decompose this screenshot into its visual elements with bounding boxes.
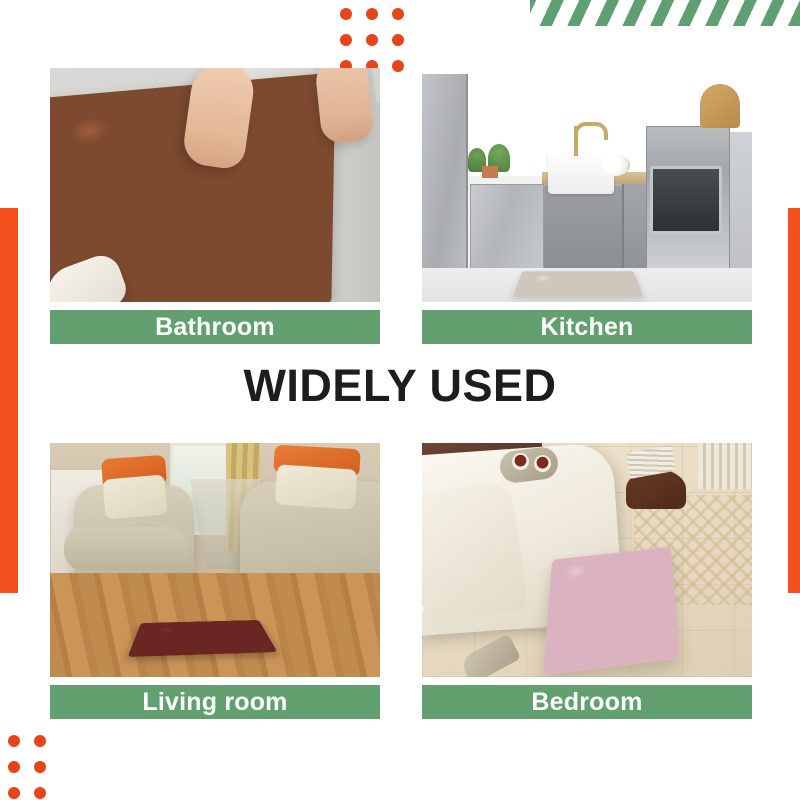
beige-pillow-left [102, 474, 167, 519]
label-text-bedroom: Bedroom [531, 690, 642, 715]
coffee-cup-right [534, 455, 551, 472]
label-text-living-room: Living room [142, 690, 287, 715]
label-text-bathroom: Bathroom [155, 315, 275, 340]
kitchen-scene [422, 68, 752, 302]
label-bar-kitchen: Kitchen [422, 310, 752, 344]
scenario-card-living-room: Living room [50, 443, 380, 719]
oven-door [650, 166, 722, 234]
bathroom-scene [50, 68, 380, 302]
photo-kitchen [422, 68, 752, 302]
scenario-card-bedroom: Bedroom [422, 443, 752, 719]
photo-living-room [50, 443, 380, 677]
armchair-left-arm [64, 527, 188, 571]
radiator [698, 443, 752, 489]
bare-foot-right [314, 68, 375, 144]
terracotta-pot [482, 166, 498, 178]
page-headline: WIDELY USED [0, 360, 800, 412]
coffee-cup-left [512, 453, 529, 470]
label-bar-living-room: Living room [50, 685, 380, 719]
white-bathrobe [422, 480, 529, 623]
scenario-card-bathroom: Bathroom [50, 68, 380, 344]
bedroom-scene [422, 443, 752, 677]
label-text-kitchen: Kitchen [540, 315, 633, 340]
beige-pillow-right [275, 464, 358, 509]
stainless-dishwasher [470, 184, 544, 272]
pink-pebble-bedroom-mat [543, 547, 680, 676]
label-bar-bedroom: Bedroom [422, 685, 752, 719]
beige-pebble-kitchen-mat [513, 271, 643, 297]
photo-bathroom [50, 68, 380, 302]
label-bar-bathroom: Bathroom [50, 310, 380, 344]
living-room-scene [50, 443, 380, 677]
scenario-card-kitchen: Kitchen [422, 68, 752, 344]
photo-bedroom [422, 443, 752, 677]
stainless-refrigerator [422, 74, 468, 274]
cutting-board [700, 84, 740, 128]
white-flowers [600, 154, 630, 176]
burgundy-pebble-mat [128, 620, 278, 657]
faucet-arc [574, 122, 608, 140]
